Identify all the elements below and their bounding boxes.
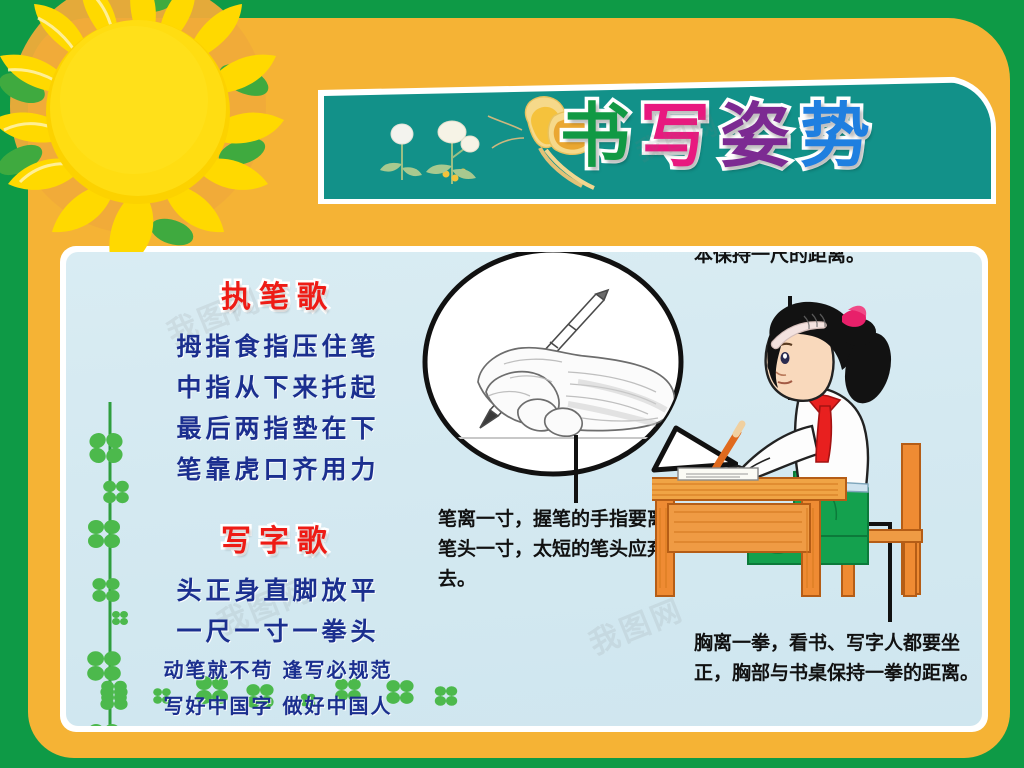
sunflower-icon [0, 0, 306, 270]
dandelion-icon [380, 124, 422, 180]
verse-1-line-3: 最后两指垫在下 [128, 408, 428, 449]
callout-pen-distance: 笔离一寸，握笔的手指要离笔头一寸，太短的笔头应弃去。 [438, 504, 668, 594]
verse-1-line-1: 拇指食指压住笔 [128, 326, 428, 367]
verse-2-line-3: 动笔就不苟 逢写必规范 [128, 652, 428, 688]
dandelion-cluster-icon [426, 121, 479, 184]
title-char-1: 书 [560, 95, 640, 177]
content-panel: 我图网 我图网 我图网 我图网 [66, 252, 982, 726]
verse-spacer [128, 490, 428, 516]
poster-title: 书写姿势 [560, 92, 980, 184]
verse-2-line-2: 一尺一寸一拳头 [128, 611, 428, 652]
student-writing-at-desk-illustration [652, 292, 982, 622]
verse-1-line-4: 笔靠虎口齐用力 [128, 449, 428, 490]
verse-1-line-2: 中指从下来托起 [128, 367, 428, 408]
verse-heading-1: 执笔歌 [128, 272, 428, 316]
poster-root: 书写姿势 我图网 [0, 0, 1024, 768]
callout-chest-distance: 胸离一拳，看书、写字人都要坐正，胸部与书桌保持一拳的距离。 [694, 628, 982, 688]
verse-heading-2: 写字歌 [128, 516, 428, 560]
verse-2-line-4: 写好中国字 做好中国人 [128, 688, 428, 724]
title-char-2: 写 [640, 95, 720, 177]
title-char-4: 势 [800, 95, 880, 177]
title-char-3: 姿 [720, 95, 800, 177]
callout-eye-distance: 眼离一尺，看书、写字，两眼与书本保持一尺的距离。 [694, 252, 982, 270]
verse-2-line-1: 头正身直脚放平 [128, 570, 428, 611]
desk [652, 468, 846, 596]
bubble-leader-line [574, 435, 578, 503]
title-banner: 书写姿势 我图网 [324, 82, 991, 199]
verse-column: 执笔歌 拇指食指压住笔 中指从下来托起 最后两指垫在下 笔靠虎口齐用力 写字歌 … [128, 272, 428, 724]
